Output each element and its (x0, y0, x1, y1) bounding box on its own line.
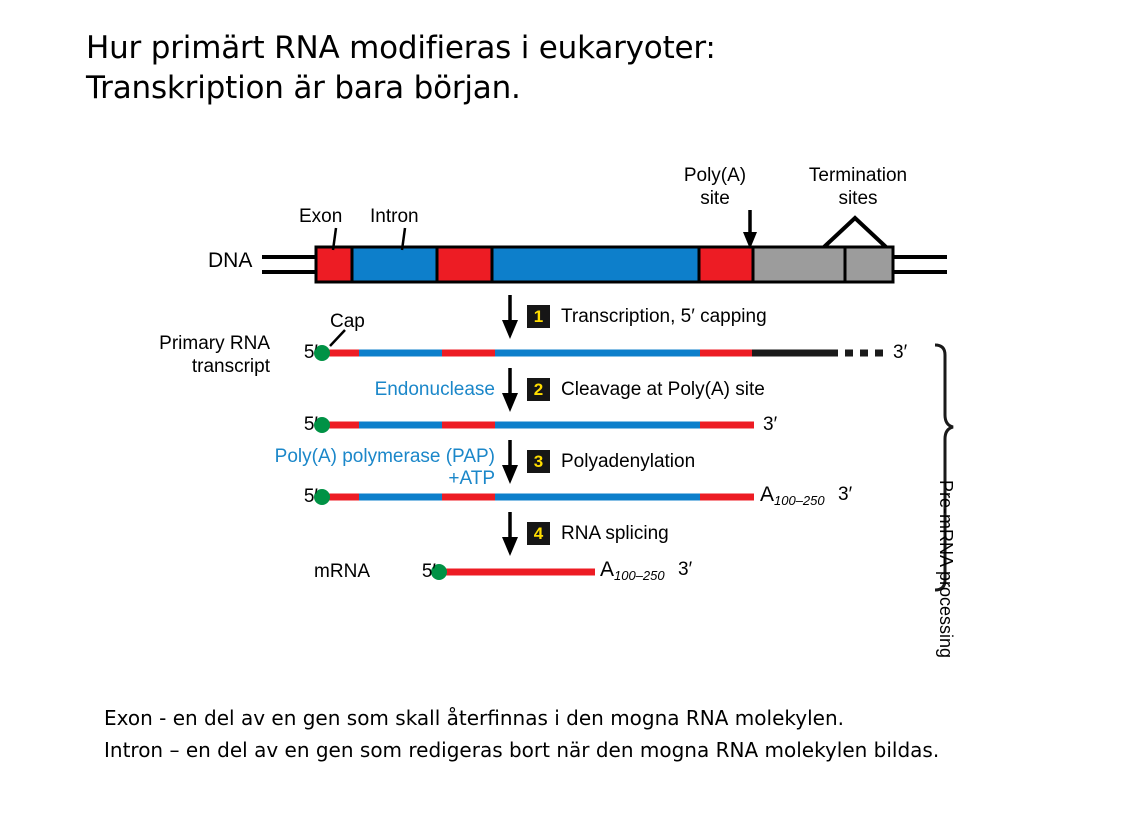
dna-segment-flanking-2 (845, 247, 893, 282)
polya-rna-tail-label: A100–250 (760, 483, 825, 512)
step-2-arrow (502, 368, 518, 412)
step-3-enzyme-label: Poly(A) polymerase (PAP) (245, 445, 495, 468)
polyadenylated-rna-strand (314, 489, 754, 505)
primary-rna-five-prime-label: 5′ (270, 341, 318, 364)
dna-segment-exon-2 (437, 247, 492, 282)
primary-rna-row-label-line2: transcript (120, 355, 270, 378)
cap-label: Cap (330, 310, 365, 333)
slide-caption: Exon - en del av en gen som skall återfi… (104, 702, 1064, 766)
step-3-arrow-head (502, 465, 518, 484)
dna-row (262, 210, 947, 282)
step-4-arrow-head (502, 537, 518, 556)
mrna-strand (431, 564, 595, 580)
cleaved-rna-three-prime-label: 3′ (763, 413, 777, 436)
step-4-badge: 4 (527, 522, 550, 545)
termination-peak (824, 218, 886, 247)
step-3-label: Polyadenylation (561, 450, 695, 473)
mrna-tail-letter: A (600, 558, 614, 581)
step-2-arrow-head (502, 393, 518, 412)
mrna-five-prime-label: 5′ (388, 560, 436, 583)
dna-segment-exon-1 (316, 247, 352, 282)
termination-sites-callout-label-line2: sites (778, 187, 938, 210)
step-1-arrow (502, 295, 518, 339)
step-3-arrow (502, 440, 518, 484)
dna-segment-intron-1 (352, 247, 437, 282)
cleaved-rna-five-prime-label: 5′ (270, 413, 318, 436)
caption-line-intron: Intron – en del av en gen som redigeras … (104, 734, 1064, 766)
rna-processing-diagram: DNA Exon Intron Poly(A) site Termination… (0, 150, 1140, 620)
step-1-badge: 1 (527, 305, 550, 328)
step-3-badge: 3 (527, 450, 550, 473)
primary-rna-transcript-strand (314, 330, 884, 361)
exon-callout-label: Exon (299, 205, 342, 228)
step-4-label: RNA splicing (561, 522, 669, 545)
intron-callout-label: Intron (370, 205, 419, 228)
polya-rna-tail-letter: A (760, 483, 774, 506)
title-line-2: Transkription är bara början. (86, 68, 986, 108)
mrna-tail-range: 100–250 (614, 568, 665, 583)
primary-rna-three-prime-label: 3′ (893, 341, 907, 364)
mrna-three-prime-label: 3′ (678, 558, 692, 581)
step-2-label: Cleavage at Poly(A) site (561, 378, 765, 401)
dna-segment-flanking-1 (753, 247, 845, 282)
step-2-enzyme-label: Endonuclease (280, 378, 495, 401)
title-line-1: Hur primärt RNA modifieras i eukaryoter: (86, 28, 986, 68)
mrna-tail-label: A100–250 (600, 558, 665, 587)
polya-site-callout-label-line1: Poly(A) (660, 164, 770, 187)
slide-title: Hur primärt RNA modifieras i eukaryoter:… (86, 28, 986, 108)
step-1-label: Transcription, 5′ capping (561, 305, 767, 328)
polya-site-callout-label-line2: site (660, 187, 770, 210)
polya-rna-five-prime-label: 5′ (270, 485, 318, 508)
mrna-row-label: mRNA (260, 560, 370, 583)
caption-line-exon: Exon - en del av en gen som skall återfi… (104, 702, 1064, 734)
dna-row-label: DNA (208, 249, 252, 272)
dna-segment-intron-2 (492, 247, 699, 282)
step-2-badge: 2 (527, 378, 550, 401)
step-4-arrow (502, 512, 518, 556)
termination-sites-callout-label-line1: Termination (778, 164, 938, 187)
primary-rna-row-label-line1: Primary RNA (120, 332, 270, 355)
polya-rna-three-prime-label: 3′ (838, 483, 852, 506)
pre-mrna-processing-label: Pre-mRNA processing (935, 480, 956, 658)
dna-segment-exon-3 (699, 247, 753, 282)
cleaved-rna-strand (314, 417, 754, 433)
step-1-arrow-head (502, 320, 518, 339)
polya-rna-tail-range: 100–250 (774, 493, 825, 508)
